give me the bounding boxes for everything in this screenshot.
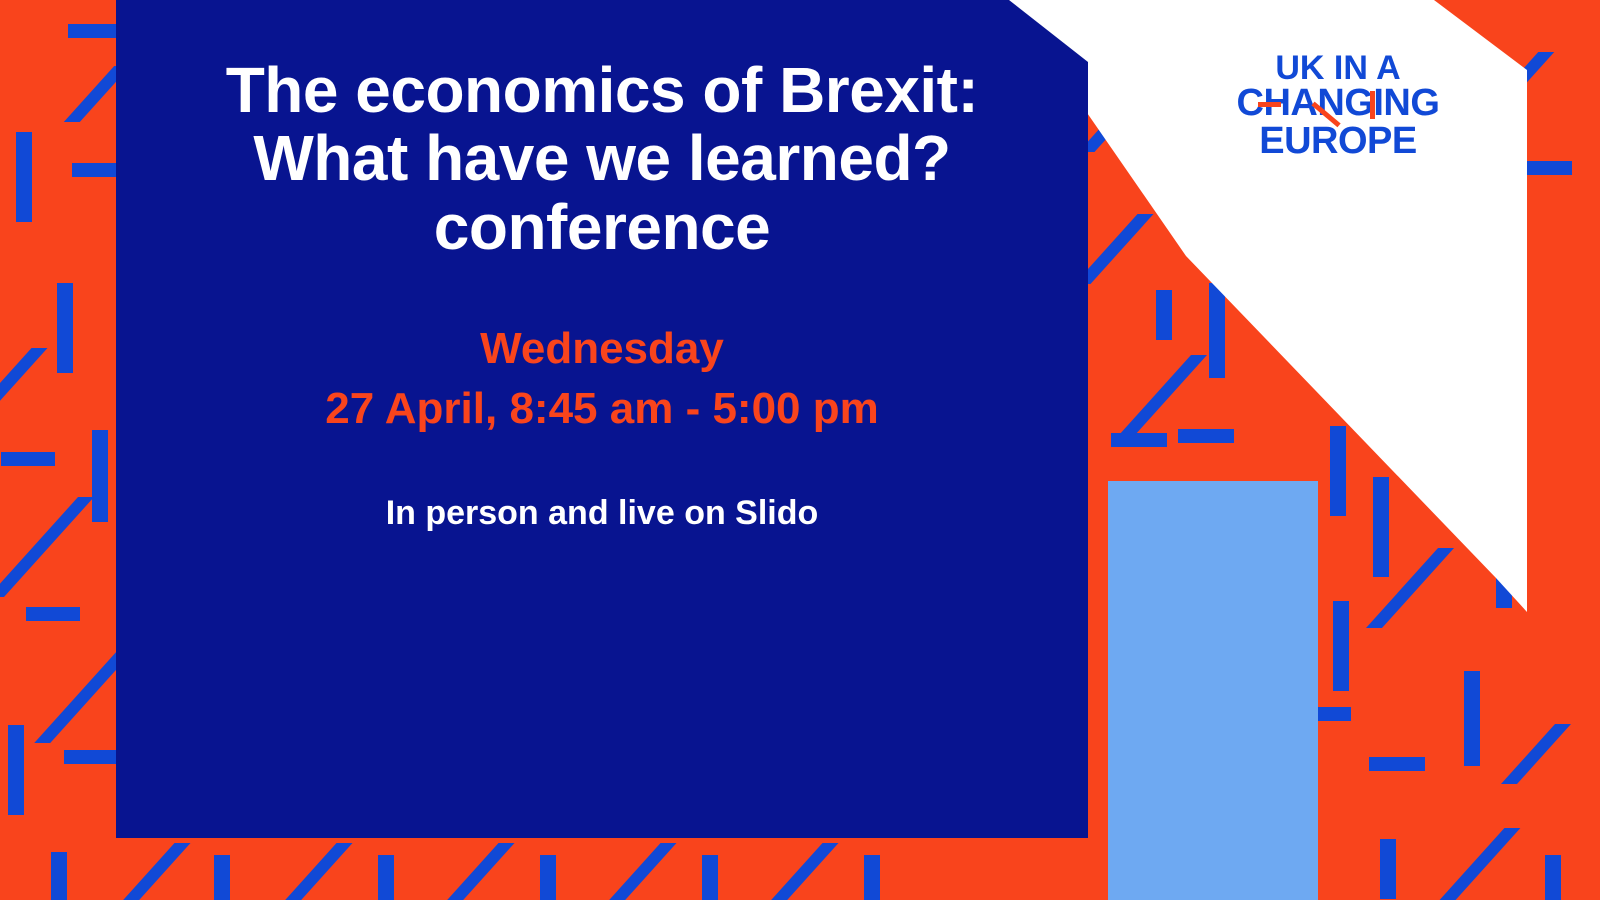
- decorative-dash: [1078, 62, 1175, 152]
- light-blue-accent-block: [1108, 481, 1318, 900]
- decorative-dash: [1440, 828, 1521, 900]
- decorative-dash: [64, 750, 118, 764]
- event-day: Wednesday: [325, 319, 878, 378]
- decorative-dash: [435, 843, 514, 900]
- decorative-dash: [0, 497, 94, 597]
- decorative-dash: [759, 843, 838, 900]
- decorative-dash: [16, 132, 32, 222]
- decorative-dash: [1178, 429, 1234, 443]
- decorative-dash: [1373, 477, 1389, 577]
- title-line-1: The economics of Brexit:: [152, 56, 1052, 124]
- decorative-dash: [1330, 426, 1346, 516]
- decorative-dash: [702, 855, 718, 900]
- title-line-3: conference: [152, 193, 1052, 261]
- decorative-dash: [273, 843, 352, 900]
- decorative-dash: [1119, 355, 1207, 435]
- decorative-dash: [1369, 757, 1425, 771]
- decorative-dash: [1, 452, 55, 466]
- decorative-dash: [57, 283, 73, 373]
- event-poster: The economics of Brexit: What have we le…: [0, 0, 1600, 900]
- decorative-dash: [68, 24, 122, 38]
- decorative-dash: [92, 430, 108, 522]
- decorative-dash: [378, 855, 394, 900]
- decorative-dash: [1496, 498, 1512, 608]
- decorative-dash: [1516, 161, 1572, 175]
- decorative-dash: [214, 855, 230, 900]
- event-format: In person and live on Slido: [386, 494, 819, 533]
- decorative-dash: [1111, 433, 1167, 447]
- decorative-dash: [540, 855, 556, 900]
- decorative-dash: [1304, 228, 1388, 303]
- logo-line-3: EUROPE: [1218, 123, 1458, 160]
- logo-line-2: CHANGING: [1218, 85, 1458, 122]
- decorative-dash: [1209, 283, 1225, 378]
- decorative-dash: [26, 607, 80, 621]
- decorative-dash: [1333, 601, 1349, 691]
- decorative-dash: [111, 843, 190, 900]
- logo-accent-i-stem: [1370, 91, 1375, 119]
- title-line-2: What have we learned?: [152, 124, 1052, 192]
- decorative-dash: [1422, 296, 1478, 310]
- decorative-dash: [1300, 27, 1356, 41]
- navy-content-panel: The economics of Brexit: What have we le…: [116, 0, 1088, 838]
- decorative-dash: [1464, 671, 1480, 766]
- event-date-time: 27 April, 8:45 am - 5:00 pm: [325, 379, 878, 438]
- logo-line-1: UK IN A: [1218, 52, 1458, 85]
- decorative-dash: [0, 348, 48, 418]
- decorative-dash: [1462, 52, 1555, 137]
- decorative-dash: [1475, 158, 1491, 253]
- decorative-dash: [1156, 290, 1172, 340]
- page-title: The economics of Brexit: What have we le…: [152, 56, 1052, 261]
- decorative-dash: [1501, 724, 1571, 784]
- decorative-dash: [864, 855, 880, 900]
- decorative-dash: [51, 852, 67, 900]
- decorative-dash: [8, 725, 24, 815]
- decorative-dash: [1380, 839, 1396, 899]
- logo-accent-h-bar: [1258, 102, 1281, 107]
- decorative-dash: [597, 843, 676, 900]
- uk-in-a-changing-europe-logo: UK IN A CHANGING EUROPE: [1218, 52, 1458, 160]
- decorative-dash: [1392, 23, 1448, 37]
- event-date-block: Wednesday 27 April, 8:45 am - 5:00 pm: [325, 319, 878, 438]
- decorative-dash: [1545, 855, 1561, 900]
